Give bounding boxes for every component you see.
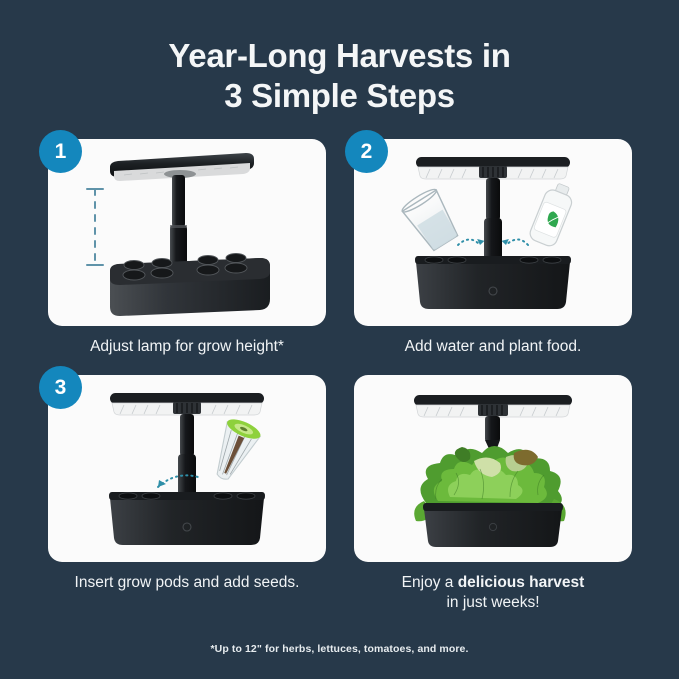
hydroponic-garden-water-plant-food-illustration (354, 139, 632, 326)
infographic-root: Year-Long Harvests in 3 Simple Steps (0, 0, 679, 679)
step-card-1[interactable] (48, 139, 326, 326)
step-caption-4: Enjoy a delicious harvestin just weeks! (354, 573, 632, 613)
hydroponic-garden-grow-pod-illustration (48, 375, 326, 562)
step-caption-2: Add water and plant food. (354, 337, 632, 357)
footnote: *Up to 12" for herbs, lettuces, tomatoes… (0, 643, 679, 655)
step-card-3[interactable] (48, 375, 326, 562)
step-caption-3: Insert grow pods and add seeds. (48, 573, 326, 593)
step-caption-1: Adjust lamp for grow height* (48, 337, 326, 357)
step-cell-4: Enjoy a delicious harvestin just weeks! (354, 375, 632, 613)
step-cell-2: 2 Add water and plant food. (354, 139, 632, 357)
step-badge-3: 3 (39, 366, 82, 409)
step-badge-1: 1 (39, 130, 82, 173)
page-title: Year-Long Harvests in 3 Simple Steps (0, 36, 679, 116)
title-line-1: Year-Long Harvests in (0, 36, 679, 76)
step-cell-3: 3 Insert grow pods and add seeds. (48, 375, 326, 613)
step-cell-1: 1 Adjust lamp for grow height* (48, 139, 326, 357)
hydroponic-garden-full-harvest-illustration (354, 375, 632, 562)
caption-4-prefix: Enjoy a (402, 574, 458, 591)
title-line-2: 3 Simple Steps (0, 76, 679, 116)
step-card-4[interactable] (354, 375, 632, 562)
caption-4-emphasis: delicious harvest (458, 574, 585, 591)
hydroponic-garden-lamp-height-illustration (48, 139, 326, 326)
step-badge-2: 2 (345, 130, 388, 173)
caption-4-suffix: in just weeks! (446, 594, 539, 611)
step-card-2[interactable] (354, 139, 632, 326)
steps-grid: 1 Adjust lamp for grow height* (48, 139, 632, 613)
